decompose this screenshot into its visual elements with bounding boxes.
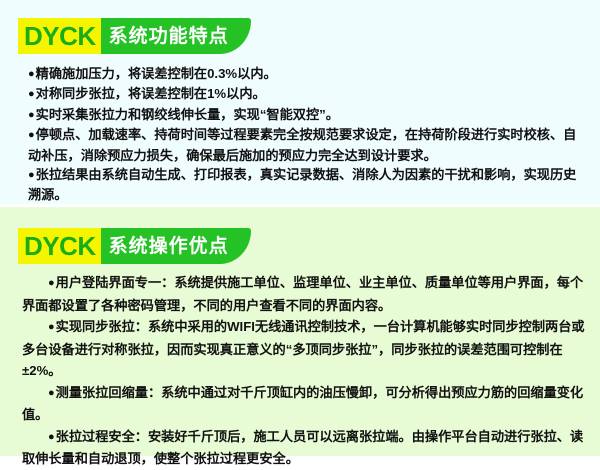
feature-item-text: 精确施加压力，将误差控制在0.3%以内。 xyxy=(36,66,277,81)
feature-item-text: 张拉结果由系统自动生成、打印报表，真实记录数据、消除人为因素的干扰和影响，实现历… xyxy=(28,167,576,202)
banner-system-advantages: DYCK 系统操作优点 xyxy=(18,228,251,264)
feature-item-text: 对称同步张拉，将误差控制在1%以内。 xyxy=(36,86,266,101)
bullet-icon: ● xyxy=(28,129,36,141)
advantage-item: ●用户登陆界面专一：系统提供施工单位、监理单位、业主单位、质量单位等用户界面，每… xyxy=(22,272,588,316)
advantage-item: ●实现同步张拉：系统中采用的WIFI无线通讯控制技术，一台计算机能够实时同步控制… xyxy=(22,316,588,382)
brand-logo-text: DYCK xyxy=(24,233,96,259)
advantage-item: ●张拉过程安全：安装好千斤顶后，施工人员可以远离张拉端。由操作平台自动进行张拉、… xyxy=(22,426,588,470)
bullet-icon: ● xyxy=(28,169,36,181)
banner-title-block: 系统功能特点 xyxy=(101,18,251,54)
brand-logo-text: DYCK xyxy=(24,23,96,49)
bullet-icon: ● xyxy=(28,88,36,100)
advantage-item-text: 测量张拉回缩量：系统中通过对千斤顶缸内的油压慢卸，可分析得出预应力筋的回缩量变化… xyxy=(22,385,583,423)
marketing-page: DYCK 系统功能特点 ●精确施加压力，将误差控制在0.3%以内。 ●对称同步张… xyxy=(0,0,600,456)
features-body: ●精确施加压力，将误差控制在0.3%以内。 ●对称同步张拉，将误差控制在1%以内… xyxy=(28,64,584,225)
section-title-features: 系统功能特点 xyxy=(109,27,229,46)
advantage-item: ●测量张拉回缩量：系统中通过对千斤顶缸内的油压慢卸，可分析得出预应力筋的回缩量变… xyxy=(22,382,588,426)
section-title-advantages: 系统操作优点 xyxy=(109,237,229,256)
advantage-item-text: 用户登陆界面专一：系统提供施工单位、监理单位、业主单位、质量单位等用户界面，每个… xyxy=(22,275,583,313)
feature-item: ●张拉结果由系统自动生成、打印报表，真实记录数据、消除人为因素的干扰和影响，实现… xyxy=(28,165,584,205)
bullet-icon: ● xyxy=(48,387,56,399)
banner-title-block: 系统操作优点 xyxy=(101,228,251,264)
bullet-icon: ● xyxy=(28,68,36,80)
bullet-icon: ● xyxy=(48,321,56,333)
bullet-icon: ● xyxy=(48,277,56,289)
advantage-item-text: 实现同步张拉：系统中采用的WIFI无线通讯控制技术，一台计算机能够实时同步控制两… xyxy=(22,319,585,378)
feature-item: ●停顿点、加载速率、持荷时间等过程要素完全按规范要求设定，在持荷阶段进行实时校核… xyxy=(28,125,584,165)
advantage-item-text: 张拉过程安全：安装好千斤顶后，施工人员可以远离张拉端。由操作平台自动进行张拉、读… xyxy=(22,429,583,467)
bullet-icon: ● xyxy=(28,109,36,121)
bullet-icon: ● xyxy=(48,431,56,443)
feature-item-text: 实时采集张拉力和钢绞线伸长量，实现“智能双控”。 xyxy=(36,107,339,122)
feature-item: ●对称同步张拉，将误差控制在1%以内。 xyxy=(28,84,584,104)
banner-system-features: DYCK 系统功能特点 xyxy=(18,18,251,54)
brand-logo-block: DYCK xyxy=(18,18,101,54)
brand-logo-block: DYCK xyxy=(18,228,101,264)
feature-item: ●精确施加压力，将误差控制在0.3%以内。 xyxy=(28,64,584,84)
feature-item: ●实时采集张拉力和钢绞线伸长量，实现“智能双控”。 xyxy=(28,105,584,125)
feature-item-text: 停顿点、加载速率、持荷时间等过程要素完全按规范要求设定，在持荷阶段进行实时校核、… xyxy=(28,127,576,162)
advantages-body: ●用户登陆界面专一：系统提供施工单位、监理单位、业主单位、质量单位等用户界面，每… xyxy=(22,272,588,470)
